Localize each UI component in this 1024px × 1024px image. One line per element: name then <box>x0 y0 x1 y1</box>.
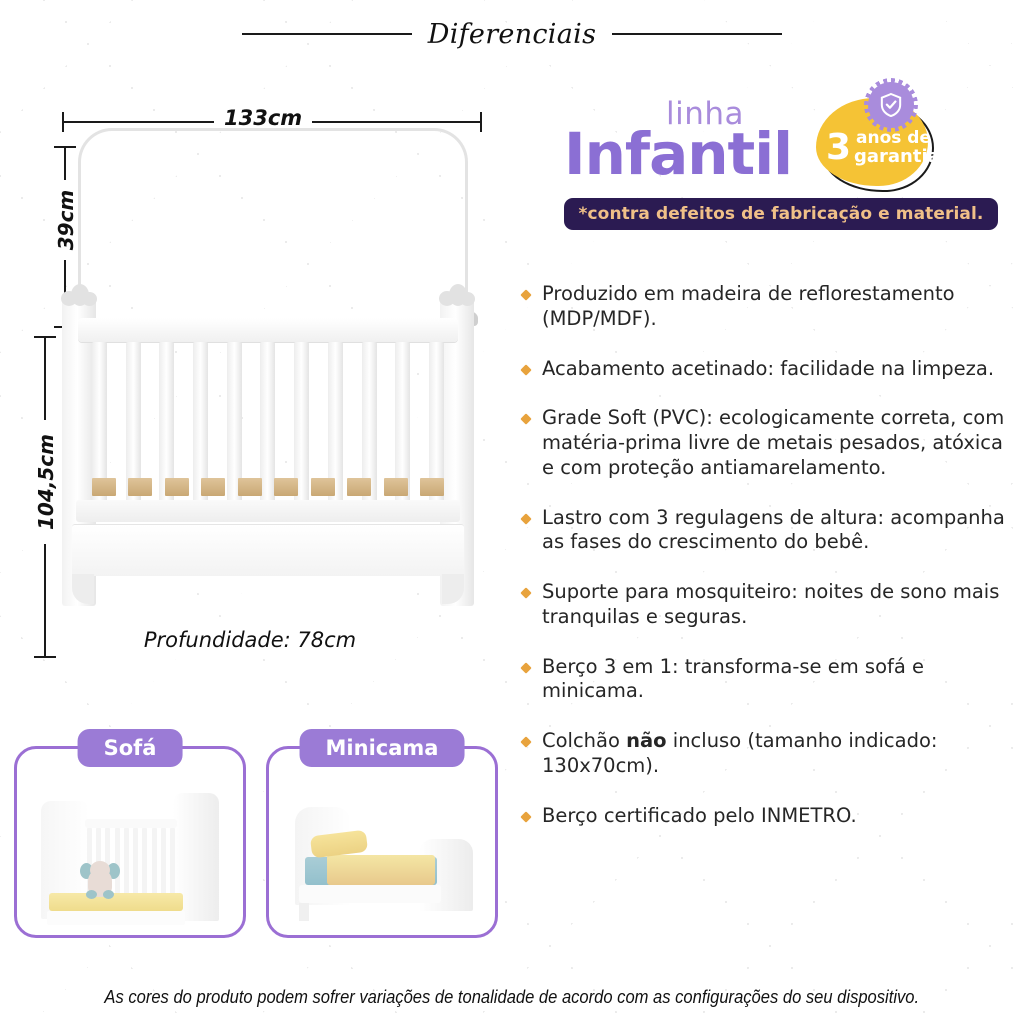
features-column: linha Infantil 3 anos de garantia *contr… <box>516 60 1016 960</box>
feature-item: Berço certificado pelo INMETRO. <box>516 804 1016 829</box>
diamond-bullet-icon <box>520 414 531 425</box>
feature-item: Produzido em madeira de reflorestamento … <box>516 282 1016 332</box>
minicama-leg <box>299 903 309 921</box>
sofa-base <box>47 911 185 925</box>
feature-item: Acabamento acetinado: facilidade na limp… <box>516 357 1016 382</box>
diamond-bullet-icon <box>520 736 531 747</box>
feature-item: Suporte para mosquiteiro: noites de sono… <box>516 580 1016 630</box>
dimension-total-height-label: 104,5cm <box>34 420 58 544</box>
warranty-note-banner: *contra defeitos de fabricação e materia… <box>564 198 998 230</box>
card-minicama-label: Minicama <box>300 729 465 767</box>
warranty-note-text: *contra defeitos de fabricação e materia… <box>579 204 984 224</box>
crib-illustration <box>58 286 478 606</box>
logo-infantil-text: Infantil <box>564 120 792 188</box>
diamond-bullet-icon <box>520 662 531 673</box>
minicama-bedspread <box>327 855 435 885</box>
dimension-cap-right <box>480 112 482 132</box>
product-diagram-column: 133cm 39cm 104,5cm <box>0 58 510 958</box>
dimension-total-height: 104,5cm <box>28 336 62 658</box>
badge-anos-text: anos de <box>856 128 931 148</box>
elephant-plush-icon <box>79 859 121 899</box>
dimension-cap-left <box>62 112 64 132</box>
card-sofa-label: Sofá <box>78 729 183 767</box>
crib-bottom-rail <box>76 500 460 522</box>
dimension-canopy-height-label: 39cm <box>54 180 78 260</box>
feature-item: Colchão não incluso (tamanho indicado: 1… <box>516 729 1016 779</box>
sofa-top-bar <box>85 819 177 828</box>
dimension-width-label: 133cm <box>214 106 312 130</box>
feature-text: Berço 3 em 1: transforma-se em sofá e mi… <box>542 655 1016 705</box>
page-title: Diferenciais <box>428 19 596 50</box>
cloud-top-icon <box>61 280 97 306</box>
page-header: Diferenciais <box>0 10 1024 58</box>
minicama-side-rail <box>299 885 441 903</box>
feature-item: Berço 3 em 1: transforma-se em sofá e mi… <box>516 655 1016 705</box>
feature-text: Berço certificado pelo INMETRO. <box>542 804 1016 829</box>
feature-text: Colchão não incluso (tamanho indicado: 1… <box>542 729 1016 779</box>
feature-item: Grade Soft (PVC): ecologicamente correta… <box>516 406 1016 480</box>
feature-text: Suporte para mosquiteiro: noites de sono… <box>542 580 1016 630</box>
card-minicama: Minicama <box>266 746 498 938</box>
cloud-top-icon <box>439 280 475 306</box>
feature-list: Produzido em madeira de reflorestamento … <box>516 282 1016 853</box>
feature-text: Grade Soft (PVC): ecologicamente correta… <box>542 406 1016 480</box>
feature-text: Lastro com 3 regulagens de altura: acomp… <box>542 506 1016 556</box>
mode-cards: Sofá <box>14 718 510 948</box>
badge-number: 3 <box>826 130 851 166</box>
dimension-cap-top <box>54 146 76 148</box>
footer-disclaimer: As cores do produto podem sofrer variaçõ… <box>0 987 1024 1008</box>
feature-text: Produzido em madeira de reflorestamento … <box>542 282 1016 332</box>
shield-check-icon <box>880 92 902 118</box>
crib-top-rail <box>78 318 458 342</box>
card-sofa-photo <box>27 763 233 927</box>
depth-label: Profundidade: 78cm <box>0 628 500 652</box>
diamond-bullet-icon <box>520 513 531 524</box>
diamond-bullet-icon <box>520 587 531 598</box>
card-sofa: Sofá <box>14 746 246 938</box>
header-rule-right <box>612 33 782 35</box>
brand-logo: linha Infantil 3 anos de garantia <box>516 80 1016 210</box>
crib-wood-supports <box>92 474 444 496</box>
badge-garantia-text: garantia <box>854 146 940 167</box>
footer-disclaimer-text: As cores do produto podem sofrer variaçõ… <box>105 987 920 1008</box>
feature-item: Lastro com 3 regulagens de altura: acomp… <box>516 506 1016 556</box>
diamond-bullet-icon <box>520 811 531 822</box>
diamond-bullet-icon <box>520 364 531 375</box>
feature-text: Acabamento acetinado: facilidade na limp… <box>542 357 1016 382</box>
warranty-badge: 3 anos de garantia <box>816 84 944 196</box>
dimension-cap-top <box>34 336 56 338</box>
card-minicama-photo <box>279 763 485 927</box>
header-rule-left <box>242 33 412 35</box>
dimension-cap-bottom <box>34 656 56 658</box>
crib-front-panel <box>72 524 464 576</box>
diamond-bullet-icon <box>520 289 531 300</box>
